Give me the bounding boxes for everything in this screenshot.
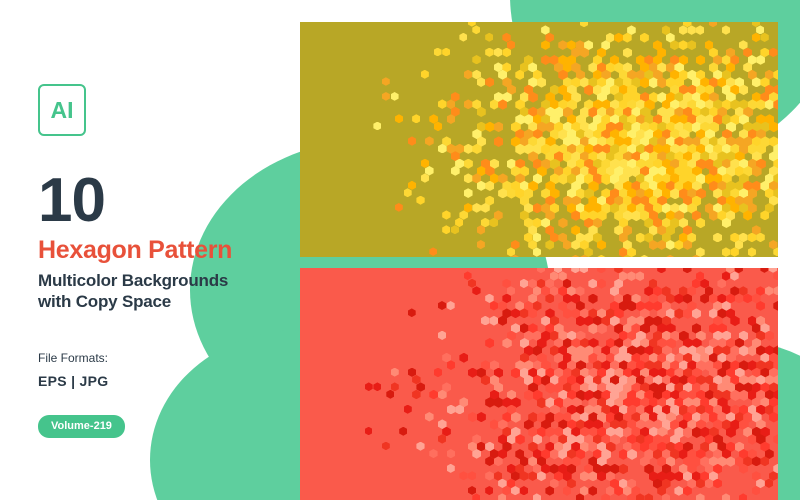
hexagon-dot <box>696 493 705 500</box>
hexagon-dot <box>722 25 731 34</box>
hexagon-dot <box>464 159 473 169</box>
hexagon-dot <box>666 255 675 257</box>
hexagon-dot <box>485 294 494 303</box>
hexagon-dot <box>558 40 567 50</box>
volume-badge: Volume-219 <box>38 415 125 438</box>
hexagon-dot <box>537 268 545 273</box>
hexagon-dot <box>507 40 516 49</box>
hexagon-dot <box>494 136 504 147</box>
hexagon-dot <box>494 471 503 481</box>
hexagon-dot <box>373 382 381 391</box>
hexagon-dot <box>447 301 455 310</box>
hexagon-dot <box>679 40 688 50</box>
hexagon-dot <box>408 136 416 145</box>
hexagon-dot <box>404 405 412 414</box>
hexagon-dot <box>597 255 606 257</box>
file-formats-label: File Formats: <box>38 351 298 365</box>
hexagon-dot <box>696 55 705 65</box>
hexagon-dot <box>438 331 447 340</box>
hexagon-dot <box>464 173 473 183</box>
hexagon-dot <box>636 271 645 281</box>
hexagon-dot <box>511 240 520 249</box>
hexagon-dot <box>477 412 486 422</box>
hexagon-dot <box>464 271 472 280</box>
hexagon-dot <box>679 25 688 35</box>
hexagon-dot <box>502 48 511 58</box>
hexagon-dot <box>468 22 476 27</box>
hexagon-dot <box>382 77 390 86</box>
hexagon-dot <box>391 368 399 377</box>
hexagon-dot <box>485 486 493 495</box>
hexagon-dot <box>520 279 529 288</box>
hexagon-dot <box>472 286 480 295</box>
poster-canvas: AI 10 Hexagon Pattern Multicolor Backgro… <box>0 0 800 500</box>
hexagon-dot <box>408 181 416 190</box>
hexagon-dot <box>614 33 623 43</box>
hexagon-dot <box>739 493 748 500</box>
hexagon-dot <box>451 225 459 234</box>
hexagon-dot <box>533 493 542 500</box>
hexagon-dot <box>395 114 403 123</box>
hexagon-dot <box>558 271 567 280</box>
hexagon-dot <box>429 114 438 124</box>
hexagon-dot <box>597 279 606 289</box>
hexagon-dot <box>773 434 778 444</box>
hexagon-dot <box>687 40 696 50</box>
hexagon-dot <box>494 48 503 57</box>
hexagon-dot <box>674 486 683 496</box>
hexagon-dot <box>490 316 499 326</box>
hexagon-dot <box>683 268 692 273</box>
hexagon-dot <box>472 25 480 34</box>
hexagon-dot <box>365 382 373 391</box>
hexagon-dot <box>421 70 429 79</box>
hexagon-dot <box>485 471 494 480</box>
hexagon-dot <box>412 114 420 123</box>
hexagon-dot <box>760 268 768 273</box>
hexagon-dot <box>722 493 731 500</box>
hexagon-dot <box>748 247 757 256</box>
hexagon-dot <box>485 122 494 132</box>
hexagon-dot <box>511 486 520 495</box>
hexagon-dot <box>416 382 425 391</box>
hexagon-preview-red <box>300 268 778 500</box>
hexagon-dot <box>717 279 726 289</box>
hexagon-dot <box>644 493 653 500</box>
hexagon-dot <box>434 122 443 132</box>
hexagon-dot <box>597 268 606 273</box>
hexagon-dot <box>386 390 394 399</box>
hexagon-dot <box>769 268 777 273</box>
hexagon-dot <box>416 196 424 205</box>
hexagon-dot <box>472 203 481 213</box>
hexagon-dot <box>520 486 529 495</box>
hexagon-dot <box>373 122 381 131</box>
hexagon-dot <box>502 279 510 288</box>
hexagon-dot <box>472 493 480 500</box>
hexagon-dot <box>533 203 542 213</box>
hexagon-dot <box>722 247 731 257</box>
hexagon-dot <box>438 301 446 310</box>
hexagon-dot <box>365 427 373 436</box>
hexagon-dot <box>412 390 421 399</box>
hexagon-dot <box>412 375 421 384</box>
hexagon-dot <box>769 48 778 58</box>
hexagon-dot <box>382 442 390 451</box>
hexagon-dot <box>464 70 473 80</box>
hexagon-dot <box>752 486 761 495</box>
hexagon-dot <box>477 240 485 249</box>
hexagon-dot <box>627 271 636 281</box>
hexagon-dot <box>674 308 684 319</box>
hexagon-dot <box>399 427 407 436</box>
hexagon-dot <box>636 233 645 243</box>
page-subtitle-line-1: Multicolor Backgrounds <box>38 270 298 291</box>
hexagon-dot <box>447 464 455 473</box>
hexagon-dot <box>442 48 450 57</box>
hexagon-dot <box>623 48 632 58</box>
hexagon-dot <box>507 247 515 256</box>
hexagon-dot <box>588 294 597 304</box>
hexagon-dot <box>429 390 438 400</box>
hexagon-dot <box>442 225 450 234</box>
hexagon-dot <box>485 48 494 57</box>
hexagon-pattern-layer-red <box>300 268 778 500</box>
hexagon-dot <box>434 368 443 378</box>
hexagon-dot <box>421 159 430 168</box>
hexagon-dot <box>421 173 430 182</box>
hexagon-dot <box>640 33 649 43</box>
hexagon-dot <box>425 166 434 176</box>
hexagon-dot <box>494 122 504 133</box>
hexagon-dot <box>687 25 696 35</box>
hexagon-dot <box>490 301 499 311</box>
hexagon-dot <box>472 55 481 64</box>
hexagon-dot <box>468 368 477 378</box>
hexagon-dot <box>588 486 597 496</box>
hexagon-dot <box>464 99 473 109</box>
hexagon-dot <box>558 218 567 228</box>
page-title: Hexagon Pattern <box>38 236 298 264</box>
hexagon-dot <box>438 99 447 109</box>
hexagon-dot <box>619 464 629 475</box>
hexagon-dot <box>541 25 550 34</box>
hexagon-dot <box>502 33 510 42</box>
hexagon-dot <box>425 136 434 146</box>
hexagon-dot <box>442 210 450 219</box>
hexagon-dot <box>485 33 493 42</box>
hexagon-dot <box>730 271 738 280</box>
adobe-illustrator-badge: AI <box>38 84 86 136</box>
hexagon-dot <box>464 188 473 198</box>
hexagon-dot <box>468 279 476 288</box>
hexagon-dot <box>391 382 399 391</box>
volume-badge-label: Volume-219 <box>51 420 112 432</box>
hexagon-dot <box>760 33 768 42</box>
hexagon-dot <box>773 286 778 295</box>
hexagon-dot <box>485 77 494 87</box>
page-subtitle-line-2: with Copy Space <box>38 291 298 312</box>
hexagon-dot <box>571 255 580 257</box>
hexagon-preview-yellow <box>300 22 778 257</box>
hexagon-dot <box>502 486 510 495</box>
hexagon-dot <box>395 203 403 212</box>
hexagon-dot <box>434 48 442 57</box>
hexagon-dot <box>447 449 456 458</box>
hexagon-dot <box>756 25 764 34</box>
page-subtitle: Multicolor Backgrounds with Copy Space <box>38 270 298 313</box>
hexagon-dot <box>429 449 437 458</box>
hexagon-dot <box>550 271 559 280</box>
hexagon-dot <box>485 338 494 348</box>
hexagon-dot <box>588 279 597 289</box>
hexagon-dot <box>528 279 537 288</box>
hexagon-dot <box>408 308 416 317</box>
hexagon-dot <box>468 412 477 422</box>
hexagon-dot <box>769 240 778 249</box>
hexagon-dot <box>507 286 516 295</box>
hexagon-dot <box>580 268 589 273</box>
hexagon-dot <box>425 412 434 422</box>
hexagon-dot <box>382 92 390 101</box>
hexagon-dot <box>464 144 473 154</box>
hexagon-dot <box>696 25 705 35</box>
hexagon-dot <box>773 70 778 80</box>
hexagon-dot <box>416 442 424 451</box>
hexagon-dot <box>752 33 761 42</box>
hexagon-dot <box>481 316 490 326</box>
hexagon-dot <box>713 233 722 243</box>
hexagon-dot <box>709 22 717 27</box>
item-count: 10 <box>38 170 298 232</box>
hexagon-dot <box>541 55 550 65</box>
hexagon-dot <box>468 471 476 480</box>
hexagon-dot <box>459 353 468 363</box>
hexagon-dot <box>468 486 476 495</box>
hexagon-dot <box>459 471 467 480</box>
hexagon-dot <box>391 92 399 101</box>
hexagon-dot <box>429 247 437 256</box>
hexagon-dot <box>408 368 416 377</box>
hexagon-dot <box>447 405 456 415</box>
hexagon-dot <box>571 268 579 273</box>
hexagon-dot <box>657 268 666 273</box>
hexagon-dot <box>765 286 774 295</box>
hexagon-dot <box>722 271 731 280</box>
info-column: AI 10 Hexagon Pattern Multicolor Backgro… <box>38 84 298 389</box>
hexagon-pattern-layer-yellow <box>300 22 778 257</box>
hexagon-dot <box>773 271 778 280</box>
hexagon-dot <box>490 419 499 429</box>
hexagon-dot <box>498 479 507 488</box>
file-formats-value: EPS | JPG <box>38 373 298 389</box>
hexagon-dot <box>404 188 412 197</box>
hexagon-dot <box>773 301 778 311</box>
hexagon-dot <box>580 22 589 27</box>
adobe-illustrator-badge-label: AI <box>51 97 74 124</box>
hexagon-dot <box>640 255 649 257</box>
hexagon-dot <box>537 279 546 289</box>
hexagon-dot <box>455 218 463 227</box>
hexagon-dot <box>459 33 467 42</box>
